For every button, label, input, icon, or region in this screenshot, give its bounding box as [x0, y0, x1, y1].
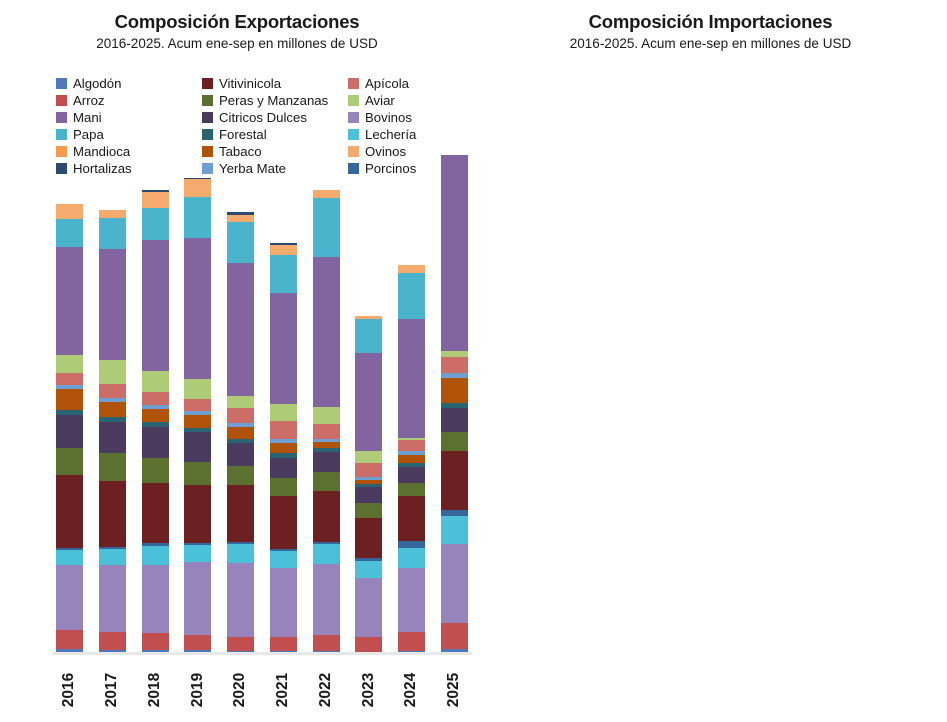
bar-segment[interactable]: [184, 399, 211, 411]
chart-page: Composición Exportaciones 2016-2025. Acu…: [0, 0, 947, 722]
x-tick-label: 2020: [232, 673, 250, 707]
legend-item-forestal[interactable]: Forestal: [202, 126, 348, 143]
bar-segment[interactable]: [99, 402, 126, 418]
bar-segment[interactable]: [99, 565, 126, 632]
bar-group: [227, 155, 254, 655]
bar-segment[interactable]: [313, 198, 340, 257]
legend-swatch-icon: [56, 112, 67, 123]
legend-item-peras-y-manzanas[interactable]: Peras y Manzanas: [202, 92, 348, 109]
bar-segment[interactable]: [355, 463, 382, 477]
bar-segment[interactable]: [398, 467, 425, 483]
bar-segment[interactable]: [313, 491, 340, 542]
bar-segment[interactable]: [270, 245, 297, 254]
stacked-bar[interactable]: [227, 212, 254, 655]
legend-item-mani[interactable]: Mani: [56, 109, 202, 126]
bar-segment[interactable]: [227, 408, 254, 423]
bar-segment[interactable]: [184, 462, 211, 485]
x-tick-label: 2021: [274, 673, 292, 707]
bar-group: [441, 155, 468, 655]
bar-segment[interactable]: [441, 432, 468, 451]
bar-segment[interactable]: [56, 550, 83, 565]
bar-segment[interactable]: [142, 371, 169, 392]
legend-label: Apícola: [365, 75, 409, 92]
bar-segment[interactable]: [99, 218, 126, 249]
bar-segment[interactable]: [56, 204, 83, 219]
bar-group: [99, 155, 126, 655]
bar-segment[interactable]: [142, 409, 169, 422]
legend-swatch-icon: [56, 78, 67, 89]
x-tick: 2024: [398, 655, 425, 722]
bar-segment[interactable]: [398, 483, 425, 496]
bar-segment[interactable]: [355, 578, 382, 637]
x-tick-label: 2017: [103, 673, 121, 707]
bar-segment[interactable]: [142, 565, 169, 633]
x-tick-label: 2018: [146, 673, 164, 707]
x-tick-label: 2022: [317, 673, 335, 707]
stacked-bar[interactable]: [441, 155, 468, 655]
bar-segment[interactable]: [313, 635, 340, 652]
legend-item-arroz[interactable]: Arroz: [56, 92, 202, 109]
legend-swatch-icon: [56, 95, 67, 106]
legend-item-algod-n[interactable]: Algodón: [56, 75, 202, 92]
legend-label: Lechería: [365, 126, 416, 143]
bar-segment[interactable]: [355, 487, 382, 503]
x-tick-label: 2016: [61, 673, 79, 707]
legend-label: Arroz: [73, 92, 105, 109]
bar-segment[interactable]: [313, 452, 340, 472]
bar-segment[interactable]: [398, 319, 425, 437]
bar-segment[interactable]: [398, 632, 425, 650]
bar-segment[interactable]: [56, 355, 83, 373]
bar-segment[interactable]: [441, 408, 468, 432]
x-tick-label: 2025: [445, 673, 463, 707]
bar-segment[interactable]: [56, 389, 83, 411]
bar-segment[interactable]: [184, 432, 211, 462]
bar-segment[interactable]: [355, 451, 382, 463]
bar-segment[interactable]: [142, 546, 169, 565]
exports-x-axis: 2016201720182019202020212022202320242025: [56, 655, 468, 722]
imports-panel: Composición Importaciones 2016-2025. Acu…: [474, 0, 947, 722]
bar-segment[interactable]: [99, 549, 126, 565]
legend-swatch-icon: [348, 78, 359, 89]
legend-item-citricos-dulces[interactable]: Citricos Dulces: [202, 109, 348, 126]
bar-group: [313, 155, 340, 655]
legend-swatch-icon: [348, 112, 359, 123]
exports-bars: [56, 155, 468, 655]
imports-title: Composición Importaciones: [474, 12, 947, 32]
legend-label: Citricos Dulces: [219, 109, 307, 126]
bar-segment[interactable]: [398, 265, 425, 273]
bar-segment[interactable]: [441, 378, 468, 403]
legend-label: Algodón: [73, 75, 121, 92]
legend-label: Forestal: [219, 126, 267, 143]
legend-item-aviar[interactable]: Aviar: [348, 92, 468, 109]
bar-segment[interactable]: [313, 544, 340, 564]
legend-label: Bovinos: [365, 109, 412, 126]
bar-segment[interactable]: [398, 440, 425, 451]
bar-segment[interactable]: [184, 562, 211, 635]
legend-label: Aviar: [365, 92, 395, 109]
bar-segment[interactable]: [313, 407, 340, 424]
bar-segment[interactable]: [99, 453, 126, 481]
bar-segment[interactable]: [270, 404, 297, 421]
x-tick-label: 2023: [360, 673, 378, 707]
bar-segment[interactable]: [313, 190, 340, 198]
bar-segment[interactable]: [355, 561, 382, 579]
imports-subtitle: 2016-2025. Acum ene-sep en millones de U…: [474, 37, 947, 52]
bar-segment[interactable]: [184, 179, 211, 197]
bar-group: [56, 155, 83, 655]
bar-segment[interactable]: [398, 273, 425, 320]
legend-swatch-icon: [202, 112, 213, 123]
bar-segment[interactable]: [313, 424, 340, 439]
x-tick: 2022: [313, 655, 340, 722]
bar-segment[interactable]: [99, 210, 126, 218]
bar-segment[interactable]: [227, 544, 254, 562]
legend-item-lecher-a[interactable]: Lechería: [348, 126, 468, 143]
exports-panel: Composición Exportaciones 2016-2025. Acu…: [0, 0, 474, 722]
legend-label: Papa: [73, 126, 104, 143]
stacked-bar[interactable]: [270, 242, 297, 655]
bar-segment[interactable]: [270, 458, 297, 478]
x-tick: 2017: [99, 655, 126, 722]
bar-segment[interactable]: [184, 379, 211, 399]
bar-segment[interactable]: [184, 197, 211, 238]
bar-segment[interactable]: [142, 633, 169, 650]
legend-swatch-icon: [56, 129, 67, 140]
x-tick: 2019: [184, 655, 211, 722]
bar-segment[interactable]: [99, 422, 126, 453]
bar-segment[interactable]: [270, 293, 297, 404]
bar-segment[interactable]: [227, 637, 254, 651]
bar-segment[interactable]: [142, 208, 169, 240]
legend-item-vitivinicola[interactable]: Vitivinicola: [202, 75, 348, 92]
bar-segment[interactable]: [441, 357, 468, 373]
bar-segment[interactable]: [398, 568, 425, 632]
bar-segment[interactable]: [441, 544, 468, 623]
legend-swatch-icon: [202, 95, 213, 106]
bar-segment[interactable]: [398, 541, 425, 548]
bar-segment[interactable]: [270, 443, 297, 454]
bar-segment[interactable]: [313, 257, 340, 407]
bar-segment[interactable]: [227, 396, 254, 408]
legend-label: Peras y Manzanas: [219, 92, 328, 109]
bar-segment[interactable]: [184, 485, 211, 543]
bar-segment[interactable]: [184, 635, 211, 651]
x-tick: 2020: [227, 655, 254, 722]
bar-segment[interactable]: [56, 630, 83, 650]
x-tick: 2016: [56, 655, 83, 722]
legend-swatch-icon: [202, 129, 213, 140]
bar-segment[interactable]: [441, 623, 468, 648]
bar-group: [142, 155, 169, 655]
stacked-bar[interactable]: [398, 265, 425, 655]
stacked-bar[interactable]: [142, 190, 169, 655]
exports-plot-area: [56, 155, 468, 655]
bar-segment[interactable]: [313, 564, 340, 635]
bar-segment[interactable]: [142, 192, 169, 208]
stacked-bar[interactable]: [313, 190, 340, 655]
legend-item-ap-cola[interactable]: Apícola: [348, 75, 468, 92]
x-tick: 2025: [441, 655, 468, 722]
bar-segment[interactable]: [184, 415, 211, 428]
bar-segment[interactable]: [270, 496, 297, 549]
bar-segment[interactable]: [142, 458, 169, 483]
legend-label: Vitivinicola: [219, 75, 281, 92]
bar-segment[interactable]: [355, 518, 382, 559]
bar-segment[interactable]: [441, 155, 468, 351]
bar-segment[interactable]: [270, 255, 297, 294]
bar-group: [270, 155, 297, 655]
stacked-bar[interactable]: [184, 178, 211, 655]
bar-segment[interactable]: [227, 215, 254, 222]
bar-segment[interactable]: [270, 421, 297, 439]
bar-segment[interactable]: [56, 448, 83, 475]
legend-swatch-icon: [202, 78, 213, 89]
bar-segment[interactable]: [184, 545, 211, 562]
stacked-bar[interactable]: [355, 316, 382, 655]
x-tick: 2018: [142, 655, 169, 722]
legend-item-bovinos[interactable]: Bovinos: [348, 109, 468, 126]
bar-segment[interactable]: [270, 478, 297, 496]
legend-swatch-icon: [348, 129, 359, 140]
bar-segment[interactable]: [441, 516, 468, 544]
bar-segment[interactable]: [398, 455, 425, 463]
bar-segment[interactable]: [398, 496, 425, 540]
bar-group: [355, 155, 382, 655]
bar-segment[interactable]: [142, 240, 169, 370]
bar-segment[interactable]: [227, 466, 254, 485]
bar-segment[interactable]: [227, 485, 254, 541]
bar-segment[interactable]: [99, 384, 126, 398]
bar-segment[interactable]: [313, 472, 340, 490]
bar-segment[interactable]: [398, 548, 425, 568]
bar-segment[interactable]: [227, 443, 254, 466]
bar-segment[interactable]: [355, 503, 382, 517]
bar-segment[interactable]: [270, 551, 297, 568]
bar-segment[interactable]: [56, 373, 83, 385]
x-tick-label: 2024: [403, 673, 421, 707]
bar-segment[interactable]: [270, 568, 297, 638]
bar-group: [184, 155, 211, 655]
stacked-bar[interactable]: [99, 210, 126, 655]
bar-segment[interactable]: [99, 481, 126, 547]
x-tick: 2021: [270, 655, 297, 722]
bar-segment[interactable]: [441, 451, 468, 510]
exports-subtitle: 2016-2025. Acum ene-sep en millones de U…: [0, 37, 474, 52]
bar-segment[interactable]: [99, 360, 126, 383]
bar-group: [398, 155, 425, 655]
stacked-bar[interactable]: [56, 204, 83, 655]
x-tick: 2023: [355, 655, 382, 722]
bar-segment[interactable]: [142, 483, 169, 543]
bar-segment[interactable]: [355, 637, 382, 653]
bar-segment[interactable]: [355, 353, 382, 452]
bar-segment[interactable]: [184, 238, 211, 379]
bar-segment[interactable]: [227, 427, 254, 438]
bar-segment[interactable]: [99, 249, 126, 360]
bar-segment[interactable]: [56, 247, 83, 355]
bar-segment[interactable]: [56, 565, 83, 630]
bar-segment[interactable]: [227, 263, 254, 396]
bar-segment[interactable]: [99, 632, 126, 650]
bar-segment[interactable]: [270, 637, 297, 651]
legend-item-papa[interactable]: Papa: [56, 126, 202, 143]
bar-segment[interactable]: [355, 319, 382, 352]
exports-title: Composición Exportaciones: [0, 12, 474, 32]
bar-segment[interactable]: [227, 563, 254, 637]
bar-segment[interactable]: [142, 427, 169, 457]
bar-segment[interactable]: [56, 415, 83, 449]
bar-segment[interactable]: [142, 392, 169, 405]
bar-segment[interactable]: [227, 222, 254, 263]
bar-segment[interactable]: [56, 219, 83, 248]
legend-swatch-icon: [348, 95, 359, 106]
x-tick-label: 2019: [189, 673, 207, 707]
bar-segment[interactable]: [56, 475, 83, 548]
legend-label: Mani: [73, 109, 102, 126]
